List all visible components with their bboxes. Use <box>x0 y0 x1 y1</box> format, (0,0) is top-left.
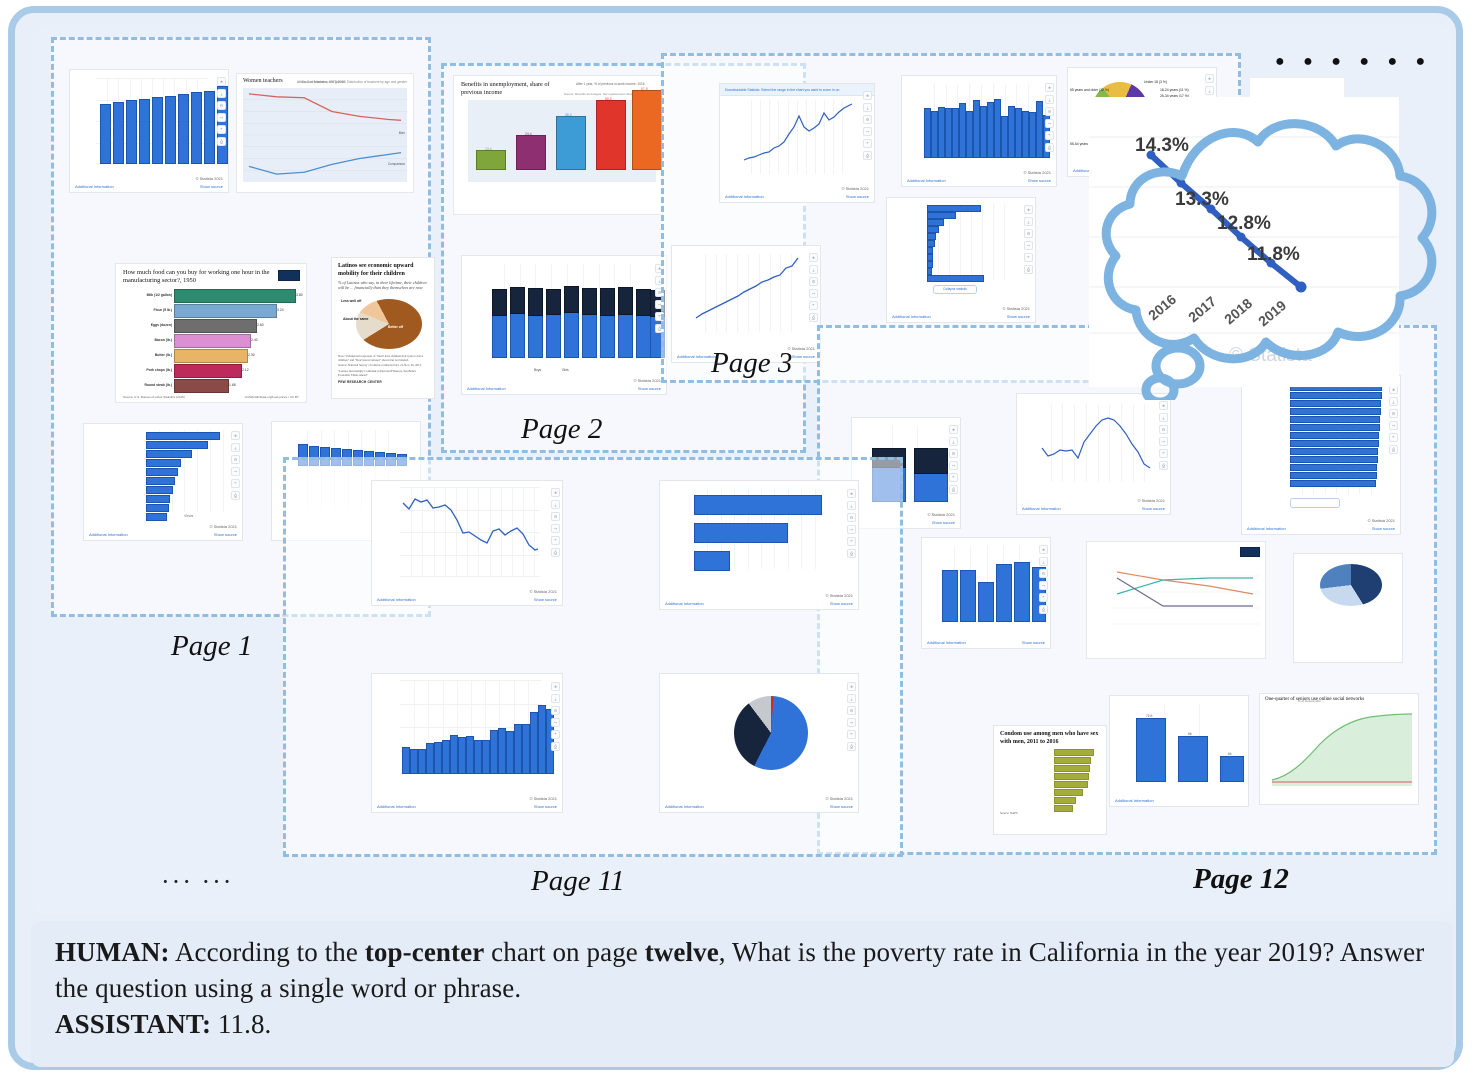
statista-toolbar[interactable]: ★ ⤓ ⚙ ⤳ ❞ ⎙ <box>949 425 958 494</box>
bar-bacon <box>174 334 251 348</box>
settings-icon[interactable]: ⚙ <box>863 115 872 124</box>
statista-toolbar[interactable]: ★ ⤓ ⚙ ⤳ ❞ ⎙ <box>551 488 560 557</box>
additional-info-link[interactable]: Additional Information <box>907 178 946 183</box>
quote-icon[interactable]: ❞ <box>551 536 560 545</box>
star-icon[interactable]: ★ <box>1159 401 1168 410</box>
print-icon[interactable]: ⎙ <box>231 491 240 500</box>
settings-icon[interactable]: ⚙ <box>949 449 958 458</box>
chart-subtitle: % of seniors who ... <box>1298 699 1324 703</box>
bar-china <box>1054 773 1089 780</box>
chart-card-p2-stacked[interactable]: Boys Girls ★ ⤓ ⚙ ⤳ ❞ ⎙ Additional Inform… <box>461 255 667 395</box>
additional-info-link[interactable]: Additional Information <box>725 194 764 199</box>
bar-netherlands <box>632 90 662 170</box>
statista-toolbar[interactable]: ★ ⤓ ⚙ ⤳ ❞ ⎙ <box>551 682 560 751</box>
bar-roundsteak <box>174 379 229 393</box>
val-us: 13.4 <box>485 147 492 151</box>
download-icon[interactable]: ⤓ <box>551 694 560 703</box>
chart-source: Source: U.S. Bureau of Labor Statistics … <box>123 395 185 399</box>
print-icon[interactable]: ⎙ <box>1045 143 1054 152</box>
val-germany: 38.4 <box>565 113 572 117</box>
pie-wrap: Better off About the same Less well off <box>338 295 428 353</box>
quote-icon[interactable]: ❞ <box>1039 593 1048 602</box>
chart-card-p12-seniors-pie[interactable] <box>1293 553 1403 663</box>
page-11-label: Page 11 <box>531 865 625 898</box>
cat-bacon: Bacon (lb.) <box>118 338 172 342</box>
star-icon[interactable]: ★ <box>551 488 560 497</box>
chart-title: Women teachers <box>243 78 283 84</box>
quote-icon[interactable]: ❞ <box>847 730 856 739</box>
share-icon[interactable]: ⤳ <box>863 127 872 136</box>
chart-card-p11-sales-pie[interactable]: ★ ⤓ ⚙ ⤳ ❞ ⎙ Additional Information Show … <box>659 673 859 813</box>
slice-label-less: Less well off <box>341 299 361 303</box>
print-icon[interactable]: ⎙ <box>1159 461 1168 470</box>
cat-butter: Butter (lb.) <box>118 353 172 357</box>
statista-toolbar[interactable]: ★ ⤓ ⚙ ⤳ ❞ ⎙ <box>231 431 240 500</box>
chart-card-p1-pew-latinos[interactable]: Latinos see economic upward mobility for… <box>331 257 435 399</box>
chart-card-p1-bar-revenue[interactable]: ★ ⤓ ⚙ ⤳ ❞ ⎙ Additional Information Show … <box>69 69 229 193</box>
chart-card-p3-hbar-countries[interactable]: Collapse statistic ★ ⤓ ⚙ ⤳ ❞ ⎙ Additiona… <box>886 197 1036 323</box>
slice-label-better: Better off <box>388 325 403 329</box>
share-icon[interactable]: ⤳ <box>551 524 560 533</box>
chart-subtitle: After 1 year, % of previous in-work inco… <box>576 82 645 86</box>
show-source-link[interactable]: Show source <box>534 804 557 809</box>
additional-info-link[interactable]: Additional Information <box>467 386 506 391</box>
print-icon[interactable]: ⎙ <box>1024 265 1033 274</box>
settings-icon[interactable]: ⚙ <box>1045 107 1054 116</box>
star-icon[interactable]: ★ <box>1024 205 1033 214</box>
human-label: HUMAN: <box>55 937 170 967</box>
settings-icon[interactable]: ⚙ <box>809 277 818 286</box>
settings-icon[interactable]: ⚙ <box>1159 425 1168 434</box>
bar-owned <box>694 495 822 515</box>
question-bold-topcenter: top-center <box>365 937 484 967</box>
pew-bars <box>1000 748 1100 810</box>
bar-germany <box>556 116 586 170</box>
line-svg <box>1113 564 1259 636</box>
star-icon[interactable]: ★ <box>847 489 856 498</box>
print-icon[interactable]: ⎙ <box>863 151 872 160</box>
chart-card-p12-unemployment-line[interactable]: ★ ⤓ ⚙ ⤳ ❞ ⎙ Additional Information Show … <box>1016 393 1171 515</box>
bar-milk <box>174 289 296 303</box>
quote-icon[interactable]: ❞ <box>551 730 560 739</box>
val-germany: 66 <box>1188 732 1192 736</box>
additional-info-link[interactable]: Additional Information <box>665 804 704 809</box>
statista-toolbar[interactable]: ★ ⤓ ⚙ ⤳ ❞ ⎙ <box>1024 205 1033 274</box>
settings-icon[interactable]: ⚙ <box>231 455 240 464</box>
cat-milk: Milk (1/2 gallon) <box>118 293 172 297</box>
star-icon[interactable]: ★ <box>949 425 958 434</box>
pie-latinos <box>356 299 422 349</box>
owid-logo <box>278 270 300 281</box>
chart-card-p12-condom-line[interactable] <box>1086 541 1266 659</box>
val-flour: 3.24 <box>277 308 284 312</box>
datalabel-2017: 12.8% <box>1217 213 1271 235</box>
settings-icon[interactable]: ⚙ <box>1389 409 1398 418</box>
assistant-answer: 11.8. <box>211 1009 271 1039</box>
quote-icon[interactable]: ❞ <box>949 473 958 482</box>
star-icon[interactable]: ★ <box>217 77 226 86</box>
line-svg <box>1039 404 1157 476</box>
star-icon[interactable]: ★ <box>551 682 560 691</box>
val-butter: 2.30 <box>248 353 255 357</box>
show-source-link[interactable]: Show source <box>830 804 853 809</box>
quote-icon[interactable]: ❞ <box>1159 449 1168 458</box>
statista-toolbar[interactable]: ★ ⤓ ⚙ ⤳ ❞ ⎙ <box>809 253 818 322</box>
show-source-link[interactable]: Show source <box>1372 526 1395 531</box>
download-icon[interactable]: ⤓ <box>1039 557 1048 566</box>
settings-icon[interactable]: ⚙ <box>847 513 856 522</box>
chart-title: Benefits in unemployment, share of previ… <box>461 81 572 97</box>
collapse-statistic-button[interactable]: Collapse statistic <box>933 285 977 294</box>
download-icon[interactable]: ⤓ <box>1159 413 1168 422</box>
settings-icon[interactable]: ⚙ <box>551 512 560 521</box>
bar-us <box>476 150 506 170</box>
settings-icon[interactable]: ⚙ <box>847 706 856 715</box>
qa-assistant-line: ASSISTANT: 11.8. <box>55 1007 1430 1043</box>
owid-logo <box>1240 547 1260 557</box>
statista-copyright: © Statista 2021 <box>826 593 853 598</box>
legend-men: Men <box>399 131 405 135</box>
assistant-label: ASSISTANT: <box>55 1009 211 1039</box>
statista-toolbar[interactable]: ★ ⤓ ⚙ ⤳ ❞ ⎙ <box>1389 385 1398 454</box>
print-icon[interactable]: ⎙ <box>809 313 818 322</box>
show-source-link[interactable]: Show source <box>1142 506 1165 511</box>
share-icon[interactable]: ⤳ <box>1389 421 1398 430</box>
statista-toolbar[interactable]: ★ ⤓ ⚙ ⤳ ❞ ⎙ <box>1045 83 1054 152</box>
share-icon[interactable]: ⤳ <box>551 718 560 727</box>
chart-card-p11-fleet-hbar[interactable]: ★ ⤓ ⚙ ⤳ ❞ ⎙ Additional Information Show … <box>659 480 859 610</box>
chart-source2: OurWorldInData.org/food-prices • CC BY <box>245 395 299 399</box>
share-icon[interactable]: ⤳ <box>1039 581 1048 590</box>
chart-card-p12-bars-6[interactable]: ★ ⤓ ⚙ ⤳ ❞ ⎙ Additional Information Show … <box>921 537 1051 649</box>
settings-icon[interactable]: ⚙ <box>1039 569 1048 578</box>
show-source-link[interactable]: Show source <box>792 354 815 359</box>
zoom-banner[interactable]: Downloadable Statistic: Select the range… <box>720 84 874 96</box>
print-icon[interactable]: ⎙ <box>1389 445 1398 454</box>
star-icon[interactable]: ★ <box>231 431 240 440</box>
download-icon[interactable]: ⤓ <box>863 103 872 112</box>
statista-copyright: © Statista 2021 <box>1138 498 1165 503</box>
quote-icon[interactable]: ❞ <box>863 139 872 148</box>
download-icon[interactable]: ⤓ <box>847 694 856 703</box>
settings-icon[interactable]: ⚙ <box>217 101 226 110</box>
statista-toolbar[interactable]: ★ ⤓ ⚙ ⤳ ❞ ⎙ <box>217 77 226 146</box>
bar-climate <box>1054 765 1090 772</box>
statista-watermark: © Statista <box>1229 345 1312 367</box>
chart-card-p1-hbar-titel[interactable]: Views ★ ⤓ ⚙ ⤳ ❞ ⎙ Additional Information… <box>83 423 243 541</box>
bar-eggs <box>174 319 257 333</box>
chart-card-p2-benefits[interactable]: Benefits in unemployment, share of previ… <box>453 75 663 215</box>
page-2-label: Page 2 <box>521 413 602 446</box>
legend-boys: Boys <box>534 368 541 372</box>
statista-copyright: © Statista 2021 <box>842 186 869 191</box>
statista-copyright: © Statista 2021 <box>196 176 223 181</box>
share-icon[interactable]: ⤳ <box>1024 241 1033 250</box>
slice-label-65plus: 65 years and older (12 %) <box>1070 88 1109 92</box>
bar-flour <box>174 304 277 318</box>
pew-title: Condom use among men who have sex with m… <box>1000 731 1100 746</box>
val-milk: 3.80 <box>296 293 303 297</box>
download-icon[interactable]: ⤓ <box>847 501 856 510</box>
question-part1: According to the <box>170 937 365 967</box>
pew-note: Note: Volunteered responses of "Don't ha… <box>338 355 428 363</box>
bar-france <box>596 100 626 170</box>
cat-roundsteak: Round steak (lb.) <box>118 383 172 387</box>
page-12-label: Page 12 <box>1193 863 1289 896</box>
additional-info-link[interactable]: Additional Information <box>1247 526 1286 531</box>
page-1-label: Page 1 <box>171 630 252 663</box>
additional-info-link[interactable]: Additional Information <box>927 640 966 645</box>
quote-icon[interactable]: ❞ <box>1045 131 1054 140</box>
settings-icon[interactable]: ⚙ <box>551 706 560 715</box>
share-icon[interactable]: ⤳ <box>949 461 958 470</box>
share-icon[interactable]: ⤳ <box>231 467 240 476</box>
statista-copyright: © Statista 2021 <box>1024 170 1051 175</box>
chart-card-p11-exports-bar[interactable]: ★ ⤓ ⚙ ⤳ ❞ ⎙ Additional Information Show … <box>371 673 563 813</box>
additional-info-link[interactable]: Additional Information <box>377 804 416 809</box>
quote-icon[interactable]: ❞ <box>847 537 856 546</box>
line-svg <box>742 100 858 166</box>
additional-info-link[interactable]: Additional Information <box>377 597 416 602</box>
show-source-link[interactable]: Show source <box>1022 640 1045 645</box>
datalabel-2015: 14.3% <box>1135 135 1189 157</box>
chart-title: How much food can you buy for working on… <box>123 269 276 285</box>
print-icon[interactable]: ⎙ <box>949 485 958 494</box>
page-12-label-text: Page 12 <box>1193 863 1289 895</box>
share-icon[interactable]: ⤳ <box>1045 119 1054 128</box>
chart-card-p12-pew-japan[interactable]: Condom use among men who have sex with m… <box>993 725 1107 835</box>
quote-icon[interactable]: ❞ <box>809 301 818 310</box>
additional-info-link[interactable]: Additional Information <box>89 532 128 537</box>
chart-card-p1-owid-food[interactable]: How much food can you buy for working on… <box>115 263 307 403</box>
statista-copyright: © Statista 2021 <box>530 796 557 801</box>
star-icon[interactable]: ★ <box>809 253 818 262</box>
share-icon[interactable]: ⤳ <box>1159 437 1168 446</box>
qa-dialogue-panel: HUMAN: According to the top-center chart… <box>31 921 1454 1067</box>
share-icon[interactable]: ⤳ <box>809 289 818 298</box>
chart-card-p3-bars-many[interactable]: ★ ⤓ ⚙ ⤳ ❞ ⎙ Additional Information Show … <box>901 75 1057 187</box>
download-icon[interactable]: ⤓ <box>1024 217 1033 226</box>
statista-copyright: © Statista 2021 <box>1368 518 1395 523</box>
statista-toolbar[interactable]: ★ ⤓ ⚙ ⤳ ❞ ⎙ <box>1039 545 1048 614</box>
pew-source: Source: NAPS <box>1000 812 1100 816</box>
download-icon[interactable]: ⤓ <box>1389 397 1398 406</box>
show-source-link[interactable]: Show source <box>214 532 237 537</box>
statista-toolbar[interactable]: ★ ⤓ ⚙ ⤳ ❞ ⎙ <box>863 91 872 160</box>
bar-russia <box>1054 805 1073 812</box>
star-icon[interactable]: ★ <box>1045 83 1054 92</box>
bar-chartered <box>694 523 788 543</box>
datalabel-2019: 11.8% <box>1247 244 1300 266</box>
chart-card-p12-long-hbar[interactable]: ★ ⤓ ⚙ ⤳ ❞ ⎙ Additional Information Show … <box>1241 375 1401 535</box>
download-icon[interactable]: ⤓ <box>1045 95 1054 104</box>
magnified-chart: 14.3% 13.3% 12.8% 11.8% 5 2016 2017 2018… <box>1089 97 1399 387</box>
print-icon[interactable]: ⎙ <box>847 742 856 751</box>
pew-study: "Latinos increasingly Confident in Perso… <box>338 370 428 378</box>
show-source-link[interactable]: Show source <box>534 597 557 602</box>
qa-human-line: HUMAN: According to the top-center chart… <box>55 935 1430 1007</box>
thought-bubble-dots: ● ● ● ● ● ● <box>1275 53 1432 71</box>
slice-label-same: About the same <box>343 317 368 321</box>
chart-card-p11-crude-birth-rate[interactable]: ★ ⤓ ⚙ ⤳ ❞ ⎙ Additional Information Show … <box>371 480 563 606</box>
screenshot-root: ★ ⤓ ⚙ ⤳ ❞ ⎙ Additional Information Show … <box>0 0 1477 1080</box>
download-icon[interactable]: ⤓ <box>551 500 560 509</box>
statista-copyright: © Statista 2021 <box>210 524 237 529</box>
pie-wrap <box>1300 562 1396 608</box>
print-icon[interactable]: ⎙ <box>217 137 226 146</box>
ellipsis-left: ··· ··· <box>161 867 233 897</box>
bar-uk <box>516 135 546 170</box>
bar-porkchops <box>174 364 242 378</box>
statista-copyright: © Statista 2021 <box>928 512 955 517</box>
statista-toolbar[interactable]: ★ ⤓ ⚙ ⤳ ❞ ⎙ <box>1159 401 1168 470</box>
star-icon[interactable]: ★ <box>1039 545 1048 554</box>
chart-card-p1-women-teachers[interactable]: Women teachers Africa, 2 of teachers, 19… <box>236 73 414 193</box>
val-porkchops: 2.12 <box>242 368 249 372</box>
show-source-link[interactable]: Show source <box>830 601 853 606</box>
chart-card-p12-population-line[interactable]: One-quarter of seniors use online social… <box>1259 693 1419 805</box>
bar-uspower <box>1054 789 1083 796</box>
pew-source: Source: National Survey of Latinos condu… <box>338 364 428 368</box>
line-svg <box>694 254 804 326</box>
star-icon[interactable]: ★ <box>1205 74 1214 83</box>
bar-cyberattacks <box>1054 749 1094 756</box>
chart-source: Source: Education at a glance / Distribu… <box>302 80 407 84</box>
show-source-link[interactable]: Show source <box>1028 178 1051 183</box>
val-uk: 24.4 <box>525 132 532 136</box>
cat-flour: Flour (5 lb.) <box>118 308 172 312</box>
question-part2: chart on page <box>484 937 644 967</box>
additional-info-link[interactable]: Additional Information <box>75 184 114 189</box>
xaxis-label: Views <box>184 514 193 518</box>
statista-toolbar[interactable]: ★ ⤓ ⚙ ⤳ ❞ ⎙ <box>847 489 856 558</box>
plot-area <box>243 88 407 182</box>
pages-canvas: ★ ⤓ ⚙ ⤳ ❞ ⎙ Additional Information Show … <box>31 25 1454 915</box>
share-icon[interactable]: ⤳ <box>217 113 226 122</box>
val-roundsteak: 1.68 <box>229 383 236 387</box>
datalabel-2016: 13.3% <box>1175 189 1229 211</box>
cat-porkchops: Pork chops (lb.) <box>118 368 172 372</box>
val-eggs: 2.60 <box>257 323 264 327</box>
show-source-link[interactable]: Show source <box>200 184 223 189</box>
star-icon[interactable]: ★ <box>863 91 872 100</box>
quote-icon[interactable]: ❞ <box>1389 433 1398 442</box>
pew-title: Latinos see economic upward mobility for… <box>338 263 428 278</box>
print-icon[interactable]: ⎙ <box>551 742 560 751</box>
star-icon[interactable]: ★ <box>847 682 856 691</box>
additional-info-link[interactable]: Additional Information <box>1115 798 1154 803</box>
print-icon[interactable]: ⎙ <box>847 549 856 558</box>
pew-subtitle: % of Latinos who say, in their lifetime,… <box>338 280 428 291</box>
statista-copyright: © Statista 2021 <box>826 796 853 801</box>
additional-info-link[interactable]: Additional Information <box>665 601 704 606</box>
quote-icon[interactable]: ❞ <box>217 125 226 134</box>
share-icon[interactable]: ⤳ <box>847 525 856 534</box>
val-netherlands: 57.8 <box>641 87 648 91</box>
line-svg <box>1270 710 1414 786</box>
chart-card-p3-line-growth[interactable]: Downloadable Statistic: Select the range… <box>719 83 875 203</box>
statista-toolbar[interactable]: ★ ⤓ ⚙ ⤳ ❞ ⎙ <box>847 682 856 751</box>
additional-info-link[interactable]: Additional Information <box>677 354 716 359</box>
val-bacon: 2.40 <box>251 338 258 342</box>
bar-orderbook <box>694 551 730 571</box>
pew-brand: PEW RESEARCH CENTER <box>338 380 428 384</box>
val-rest: 64 <box>1228 752 1232 756</box>
slice-label-1824: 18-24 years (11 %) <box>1160 88 1189 92</box>
chart-card-p12-three-bars[interactable]: 71% 66 64 Additional Information <box>1109 695 1249 807</box>
line-svg <box>243 88 407 182</box>
slice-label-under18: Under 18 (3 %) <box>1144 80 1167 84</box>
additional-info-link[interactable]: Additional Information <box>892 314 931 319</box>
val-china: 71% <box>1146 714 1152 718</box>
legend-girls: Girls <box>562 368 569 372</box>
download-icon[interactable]: ⤓ <box>1205 86 1214 95</box>
question-bold-twelve: twelve <box>645 937 719 967</box>
bar-butter <box>174 349 248 363</box>
settings-icon[interactable]: ⚙ <box>1024 229 1033 238</box>
statista-copyright: © Statista 2021 <box>634 378 661 383</box>
bar-economy <box>1054 781 1088 788</box>
show-source-link[interactable]: Show source <box>846 194 869 199</box>
show-source-link[interactable]: Show source <box>932 520 955 525</box>
statista-copyright: © Statista 2021 <box>1003 306 1030 311</box>
pie-sales <box>734 696 808 770</box>
additional-info-link[interactable]: Additional Information <box>1022 506 1061 511</box>
legend-comparison: Comparison <box>388 162 405 166</box>
download-icon[interactable]: ⤓ <box>231 443 240 452</box>
show-source-link[interactable]: Show source <box>638 386 661 391</box>
page-3-label: Page 3 <box>711 347 792 380</box>
quote-icon[interactable]: ❞ <box>231 479 240 488</box>
download-icon[interactable]: ⤓ <box>809 265 818 274</box>
collapse-statistic-button[interactable] <box>1290 498 1340 508</box>
line-svg <box>400 487 542 571</box>
val-france: 50.2 <box>605 97 612 101</box>
chart-card-p3-line-cumulative[interactable]: ★ ⤓ ⚙ ⤳ ❞ ⎙ Additional Information Show … <box>671 245 821 363</box>
share-icon[interactable]: ⤳ <box>847 718 856 727</box>
statista-copyright: © Statista 2021 <box>530 589 557 594</box>
cat-eggs: Eggs (dozen) <box>118 323 172 327</box>
quote-icon[interactable]: ❞ <box>1024 253 1033 262</box>
download-icon[interactable]: ⤓ <box>949 437 958 446</box>
download-icon[interactable]: ⤓ <box>217 89 226 98</box>
pie-seniors <box>1320 564 1382 606</box>
print-icon[interactable]: ⎙ <box>1039 605 1048 614</box>
bar-refugees <box>1054 797 1076 804</box>
print-icon[interactable]: ⎙ <box>551 548 560 557</box>
bar-isis <box>1054 757 1091 764</box>
outer-card: ★ ⤓ ⚙ ⤳ ❞ ⎙ Additional Information Show … <box>8 6 1463 1070</box>
show-source-link[interactable]: Show source <box>1007 314 1030 319</box>
